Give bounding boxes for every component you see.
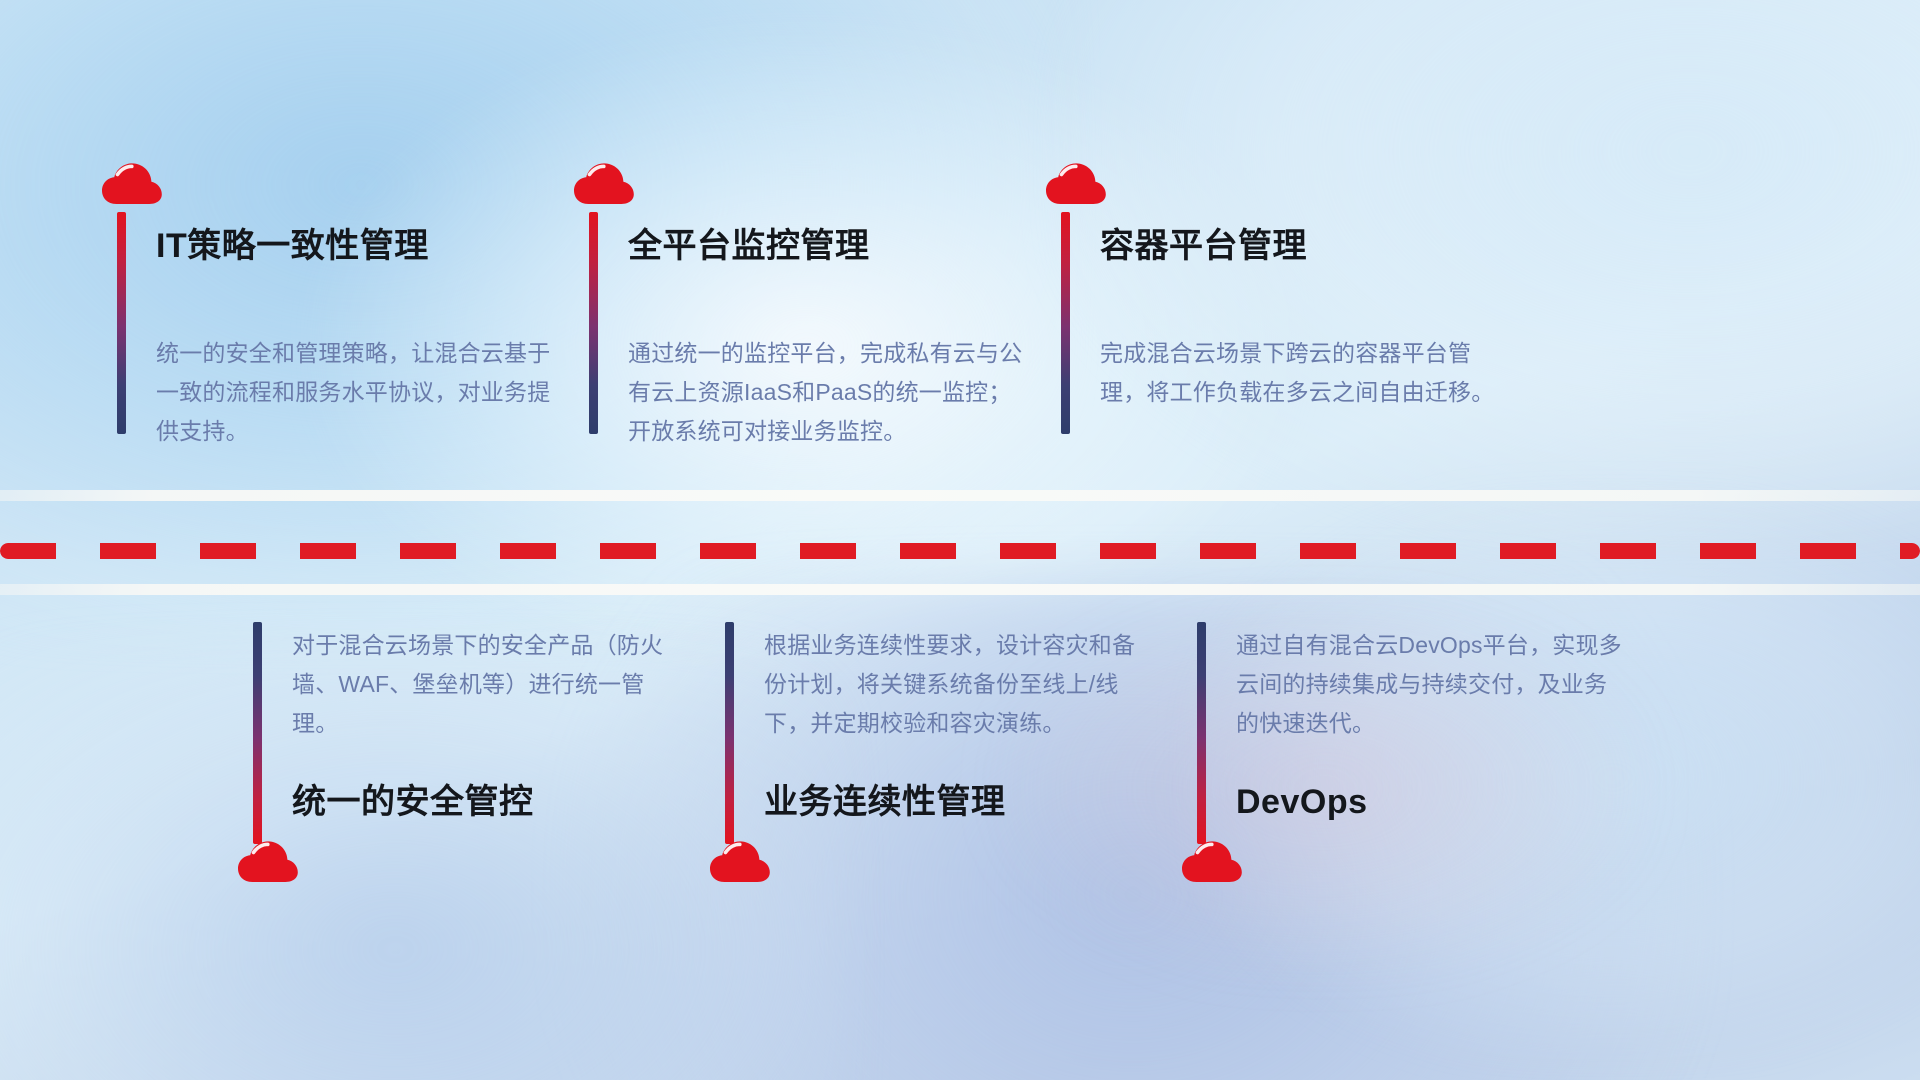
bottom-item-1-body: 对于混合云场景下的安全产品（防火墙、WAF、堡垒机等）进行统一管理。 <box>292 626 682 743</box>
cloud-pin-icon <box>236 838 300 892</box>
top-item-1-body: 统一的安全和管理策略，让混合云基于一致的流程和服务水平协议，对业务提供支持。 <box>156 334 556 451</box>
top-item-2-body: 通过统一的监控平台，完成私有云与公有云上资源IaaS和PaaS的统一监控；开放系… <box>628 334 1028 451</box>
road-edge-top <box>0 490 1920 501</box>
road-center-dashes <box>0 543 1920 559</box>
top-item-3-body: 完成混合云场景下跨云的容器平台管理，将工作负载在多云之间自由迁移。 <box>1100 334 1500 412</box>
top-item-2-title: 全平台监控管理 <box>628 226 870 267</box>
road-edge-bottom <box>0 584 1920 595</box>
road-dash-pattern <box>0 543 1920 559</box>
cloud-pin-icon <box>708 838 772 892</box>
connector-line <box>725 622 734 844</box>
cloud-pin-icon <box>1044 160 1108 214</box>
top-item-1-title: IT策略一致性管理 <box>156 226 429 267</box>
infographic-canvas: IT策略一致性管理 统一的安全和管理策略，让混合云基于一致的流程和服务水平协议，… <box>0 0 1920 1080</box>
connector-line <box>117 212 126 434</box>
cloud-pin-icon <box>1180 838 1244 892</box>
connector-line <box>1197 622 1206 844</box>
bottom-item-1-title: 统一的安全管控 <box>292 782 534 823</box>
bottom-item-2-title: 业务连续性管理 <box>764 782 1006 823</box>
cloud-pin-icon <box>572 160 636 214</box>
bottom-item-3-title: DevOps <box>1236 782 1368 823</box>
connector-line <box>1061 212 1070 434</box>
bottom-item-3-body: 通过自有混合云DevOps平台，实现多云间的持续集成与持续交付，及业务的快速迭代… <box>1236 626 1626 743</box>
top-item-3-title: 容器平台管理 <box>1100 226 1307 267</box>
cloud-pin-icon <box>100 160 164 214</box>
connector-line <box>253 622 262 844</box>
connector-line <box>589 212 598 434</box>
background-glow-right <box>1056 0 1920 540</box>
bottom-item-2-body: 根据业务连续性要求，设计容灾和备份计划，将关键系统备份至线上/线下，并定期校验和… <box>764 626 1154 743</box>
